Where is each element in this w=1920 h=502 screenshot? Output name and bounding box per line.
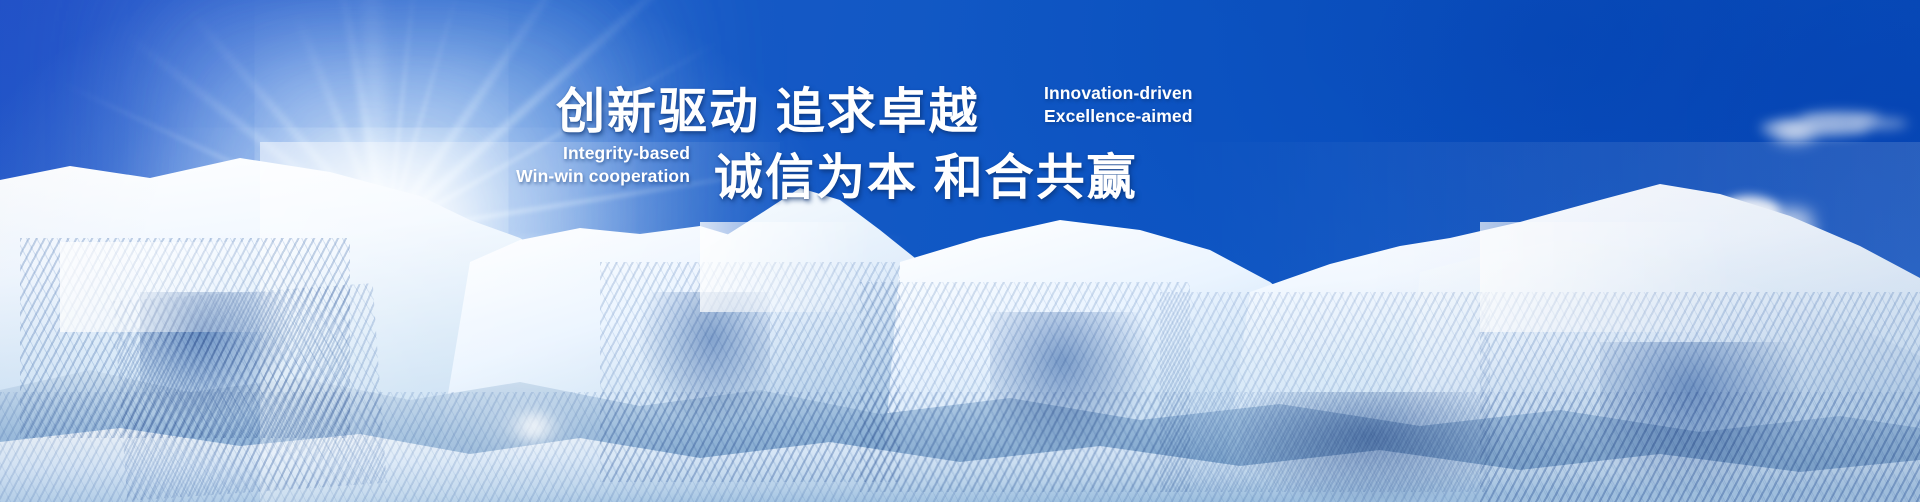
slogan-english-left-line-1: Integrity-based — [516, 142, 690, 165]
hero-banner: 创新驱动 追求卓越 诚信为本 和合共赢 Innovation-driven Ex… — [0, 0, 1920, 502]
slogan-english-right-line-2: Excellence-aimed — [1044, 105, 1193, 128]
slogan-chinese-line-1: 创新驱动 追求卓越 — [556, 72, 980, 143]
slogan-english-left-line-2: Win-win cooperation — [516, 165, 690, 188]
slogan-english-right: Innovation-driven Excellence-aimed — [1044, 82, 1193, 128]
slogan-chinese-line-2: 诚信为本 和合共赢 — [714, 138, 1138, 209]
slogan-english-right-line-1: Innovation-driven — [1044, 82, 1193, 105]
slogan-english-left: Integrity-based Win-win cooperation — [516, 142, 690, 188]
